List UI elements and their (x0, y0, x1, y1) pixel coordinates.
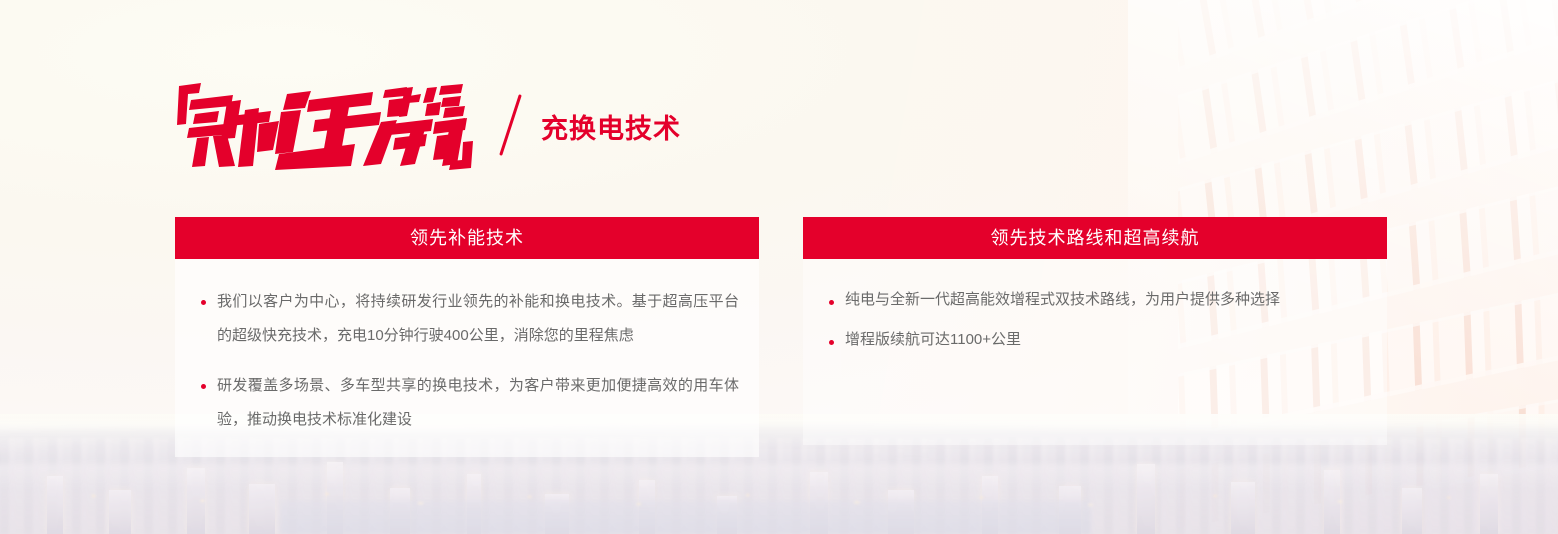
banner-header: 充换电技术 (175, 78, 681, 174)
bullet-list: 我们以客户为中心，将持续研发行业领先的补能和换电技术。基于超高压平台的超级快充技… (195, 285, 739, 437)
slash-divider-icon (489, 91, 533, 161)
page-title: 充换电技术 (541, 107, 681, 146)
feature-card-range: 领先技术路线和超高续航 纯电与全新一代超高能效增程式双技术路线，为用户提供多种选… (803, 217, 1387, 457)
bullet-list: 纯电与全新一代超高能效增程式双技术路线，为用户提供多种选择 增程版续航可达110… (823, 285, 1367, 355)
card-heading: 领先技术路线和超高续航 (803, 217, 1387, 259)
list-item: 我们以客户为中心，将持续研发行业领先的补能和换电技术。基于超高压平台的超级快充技… (195, 285, 739, 353)
brand-logo (175, 80, 475, 172)
promo-banner: 充换电技术 领先补能技术 我们以客户为中心，将持续研发行业领先的补能和换电技术。… (0, 0, 1558, 534)
feature-card-charging: 领先补能技术 我们以客户为中心，将持续研发行业领先的补能和换电技术。基于超高压平… (175, 217, 759, 457)
card-body: 我们以客户为中心，将持续研发行业领先的补能和换电技术。基于超高压平台的超级快充技… (175, 259, 759, 457)
card-heading: 领先补能技术 (175, 217, 759, 259)
list-item: 增程版续航可达1100+公里 (823, 325, 1367, 355)
card-body: 纯电与全新一代超高能效增程式双技术路线，为用户提供多种选择 增程版续航可达110… (803, 259, 1387, 445)
list-item: 研发覆盖多场景、多车型共享的换电技术，为客户带来更加便捷高效的用车体验，推动换电… (195, 369, 739, 437)
feature-card-list: 领先补能技术 我们以客户为中心，将持续研发行业领先的补能和换电技术。基于超高压平… (175, 217, 1387, 457)
list-item: 纯电与全新一代超高能效增程式双技术路线，为用户提供多种选择 (823, 285, 1367, 315)
